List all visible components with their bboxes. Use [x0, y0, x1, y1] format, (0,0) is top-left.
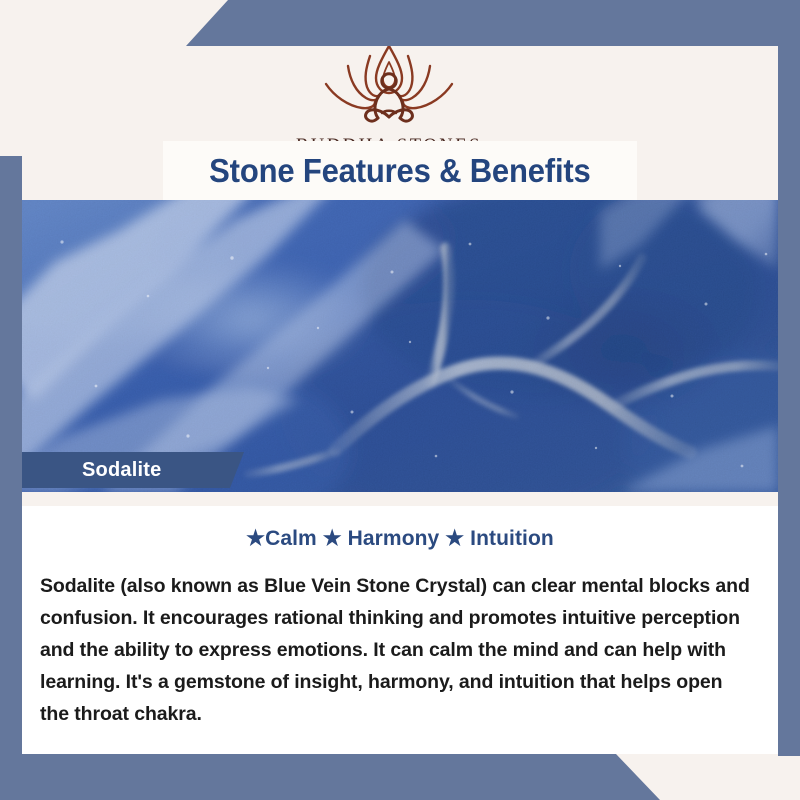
keyword-list: ★Calm ★ Harmony ★ Intuition	[22, 526, 778, 551]
sodalite-stone-photo	[0, 200, 778, 492]
frame-right-band	[778, 44, 800, 756]
stone-description: Sodalite (also known as Blue Vein Stone …	[40, 570, 756, 730]
frame-top-band	[0, 0, 800, 46]
poster-canvas: BUDDHA STONES Stone Features & Benefits	[0, 0, 800, 800]
frame-bottom-band	[0, 754, 800, 800]
frame-left-band	[0, 156, 22, 756]
lotus-meditation-figure-icon	[304, 40, 474, 132]
page-title: Stone Features & Benefits	[209, 152, 590, 190]
brand-logo: BUDDHA STONES	[296, 40, 482, 157]
stone-name-label: Sodalite	[22, 459, 161, 482]
content-top-strip	[22, 492, 778, 506]
content-area: ★Calm ★ Harmony ★ Intuition Sodalite (al…	[22, 492, 778, 754]
stone-name-banner: Sodalite	[22, 452, 244, 488]
keyword-calm: ★Calm ★ Harmony ★ Intuition	[246, 527, 554, 550]
title-panel: Stone Features & Benefits	[163, 141, 637, 200]
